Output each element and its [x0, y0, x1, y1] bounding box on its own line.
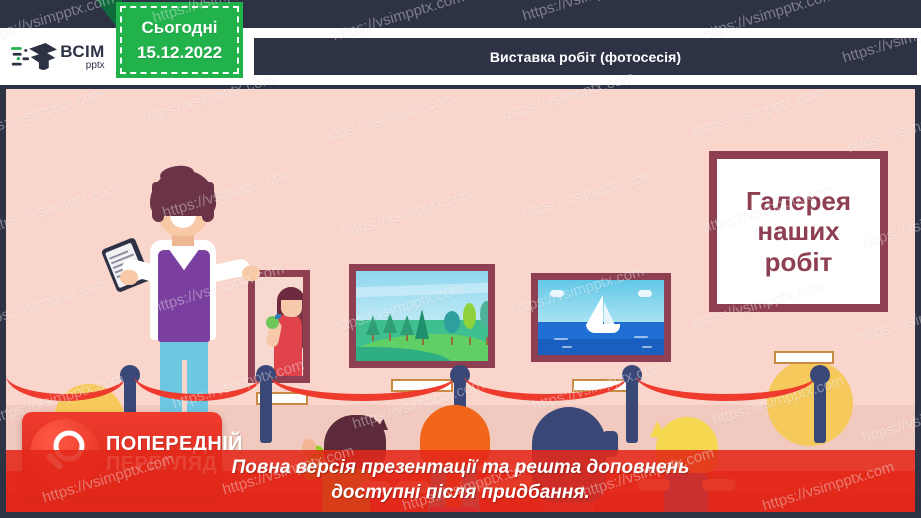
gallery-sign: Галерея наших робіт [709, 151, 888, 312]
brand-name: ВСІМ [60, 43, 104, 60]
purchase-notice: Повна версія презентації та решта доповн… [6, 450, 915, 512]
watermark-text: https://vsimpptx.com [521, 0, 657, 25]
artwork-portrait-girl-with-apple [248, 270, 310, 383]
rope-post [260, 381, 272, 443]
gallery-sign-line-3: робіт [765, 248, 833, 276]
gallery-sign-line-1: Галерея [746, 187, 851, 215]
graduation-cap-icon [11, 40, 57, 74]
date-badge-value: 15.12.2022 [137, 43, 222, 63]
brand-suffix: pptx [60, 61, 104, 71]
artwork-plaque-4 [774, 351, 834, 364]
notice-line-1: Повна версія презентації та решта доповн… [232, 456, 690, 481]
date-badge-label: Сьогодні [142, 18, 218, 38]
rope-post [814, 381, 826, 443]
today-date-badge: Сьогодні 15.12.2022 [116, 2, 243, 78]
gallery-sign-line-2: наших [757, 217, 839, 245]
slide-title: Виставка робіт (фотосесія) [490, 49, 681, 65]
presentation-slide: ВСІМ pptx Сьогодні 15.12.2022 Виставка р… [0, 0, 921, 518]
artwork-sailboat-at-sea [531, 273, 671, 362]
brand-logo[interactable]: ВСІМ pptx [4, 30, 112, 83]
slide-title-bar: Виставка робіт (фотосесія) [254, 38, 917, 75]
artwork-landscape-with-trees [349, 264, 495, 368]
notice-line-2: доступні після придбання. [331, 481, 590, 506]
